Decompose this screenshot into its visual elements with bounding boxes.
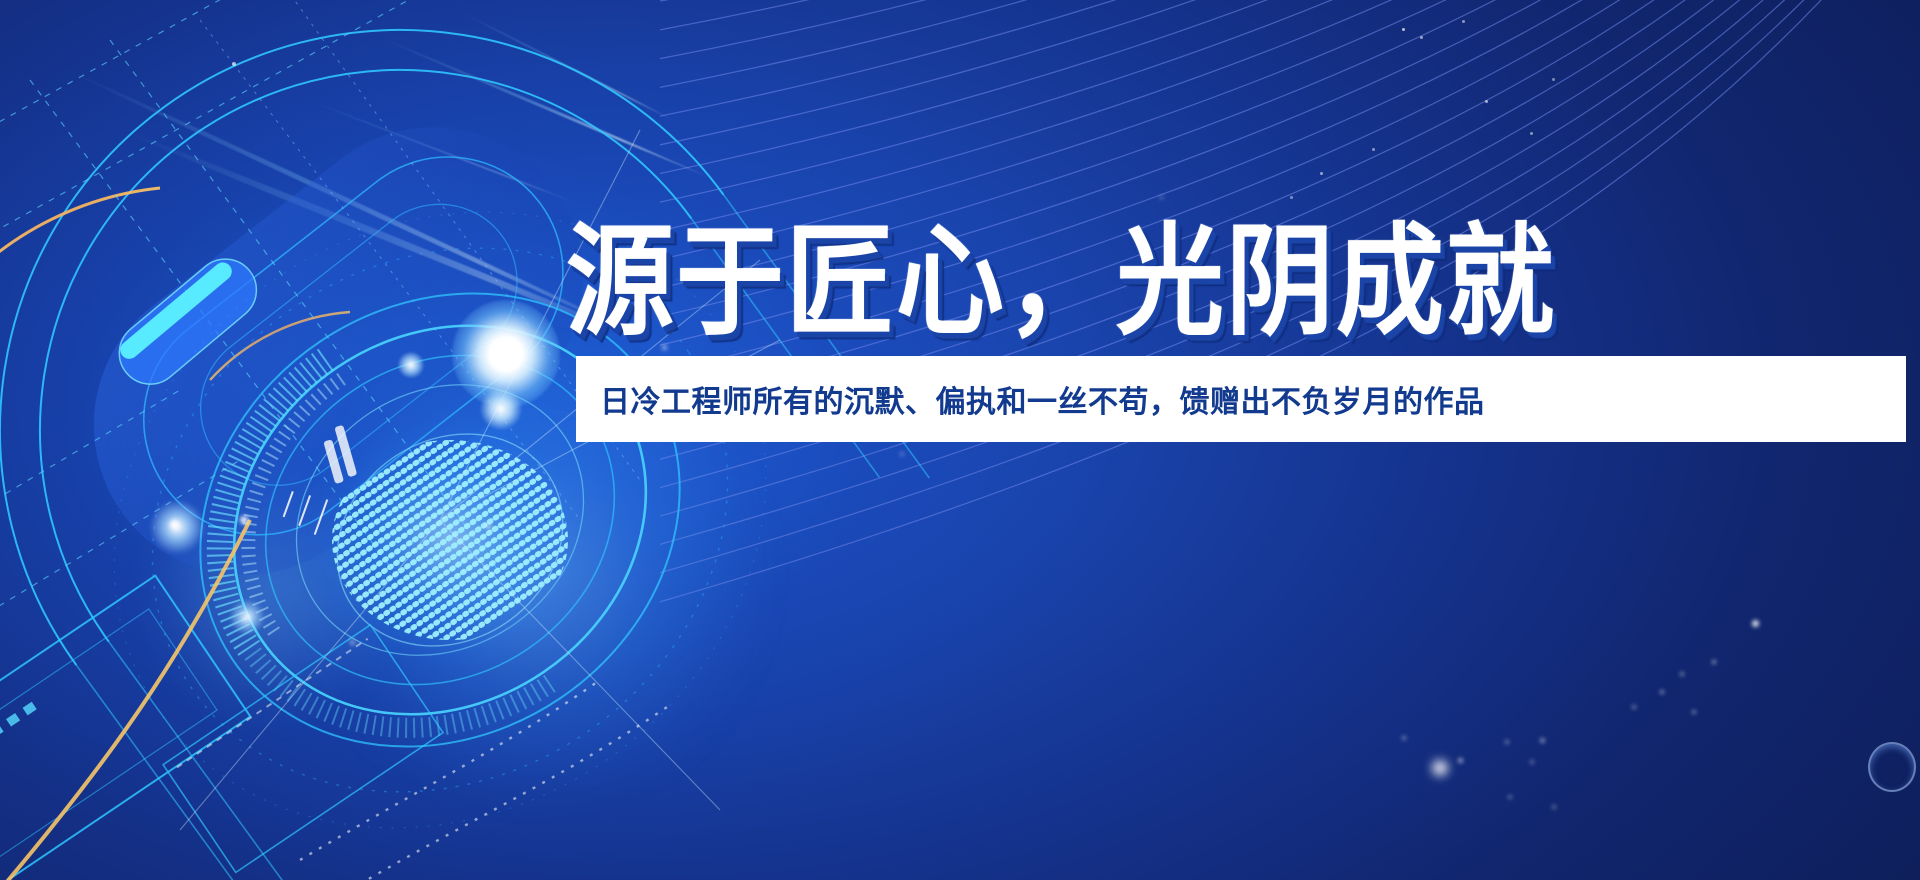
bokeh-dot bbox=[1290, 196, 1293, 199]
bokeh-dot bbox=[1420, 36, 1423, 39]
bokeh-dot bbox=[1752, 620, 1759, 627]
bokeh-dot bbox=[1485, 100, 1488, 103]
bokeh-dot bbox=[1462, 20, 1465, 23]
core-light-flare bbox=[452, 300, 560, 408]
light-streak-beam bbox=[119, 126, 641, 342]
bokeh-dot bbox=[1712, 660, 1716, 664]
bokeh-dot bbox=[1530, 760, 1534, 764]
bokeh-dot bbox=[1540, 738, 1545, 743]
left-soft-glow bbox=[140, 470, 400, 720]
light-streak-3 bbox=[300, 96, 581, 205]
bokeh-dot bbox=[1680, 672, 1684, 676]
lower-left-flare bbox=[150, 500, 204, 554]
bokeh-dot bbox=[1320, 172, 1323, 175]
bokeh-dot bbox=[1632, 705, 1636, 709]
hero-banner: 源于匠心，光阴成就 日冷工程师所有的沉默、偏执和一丝不苟，馈赠出不负岁月的作品 bbox=[0, 0, 1920, 880]
ring-bubble bbox=[1868, 742, 1916, 792]
bokeh-dot-large bbox=[1432, 760, 1448, 776]
light-streak-main bbox=[59, 64, 641, 339]
bokeh-dot bbox=[1402, 736, 1406, 740]
bokeh-dot bbox=[170, 520, 179, 529]
bokeh-dot bbox=[486, 524, 491, 529]
bokeh-dot bbox=[1458, 758, 1463, 763]
bokeh-dot bbox=[1505, 740, 1509, 744]
subtitle-bar: 日冷工程师所有的沉默、偏执和一丝不苟，馈赠出不负岁月的作品 bbox=[576, 356, 1906, 442]
bokeh-dot bbox=[1508, 795, 1512, 799]
bokeh-dot bbox=[232, 62, 236, 66]
light-streak-2 bbox=[455, 8, 679, 123]
bokeh-dot bbox=[240, 516, 248, 524]
bokeh-dot bbox=[1552, 78, 1555, 81]
subtitle-text: 日冷工程师所有的沉默、偏执和一丝不苟，馈赠出不负岁月的作品 bbox=[600, 377, 1485, 421]
bokeh-dot bbox=[1402, 28, 1405, 31]
bokeh-dot bbox=[900, 452, 904, 456]
bottom-left-flare bbox=[230, 600, 264, 634]
page-title: 源于匠心，光阴成就 bbox=[566, 218, 1556, 349]
light-streak-1 bbox=[379, 36, 712, 179]
bokeh-dot bbox=[1552, 805, 1556, 809]
bokeh-dot bbox=[1530, 132, 1533, 135]
bokeh-dot bbox=[1660, 690, 1664, 694]
secondary-flare bbox=[480, 388, 522, 430]
bokeh-dot bbox=[1160, 196, 1163, 199]
tertiary-flare bbox=[398, 352, 424, 378]
bokeh-dot bbox=[350, 640, 355, 645]
bokeh-dot bbox=[1692, 710, 1696, 714]
bokeh-dot bbox=[1372, 148, 1375, 151]
